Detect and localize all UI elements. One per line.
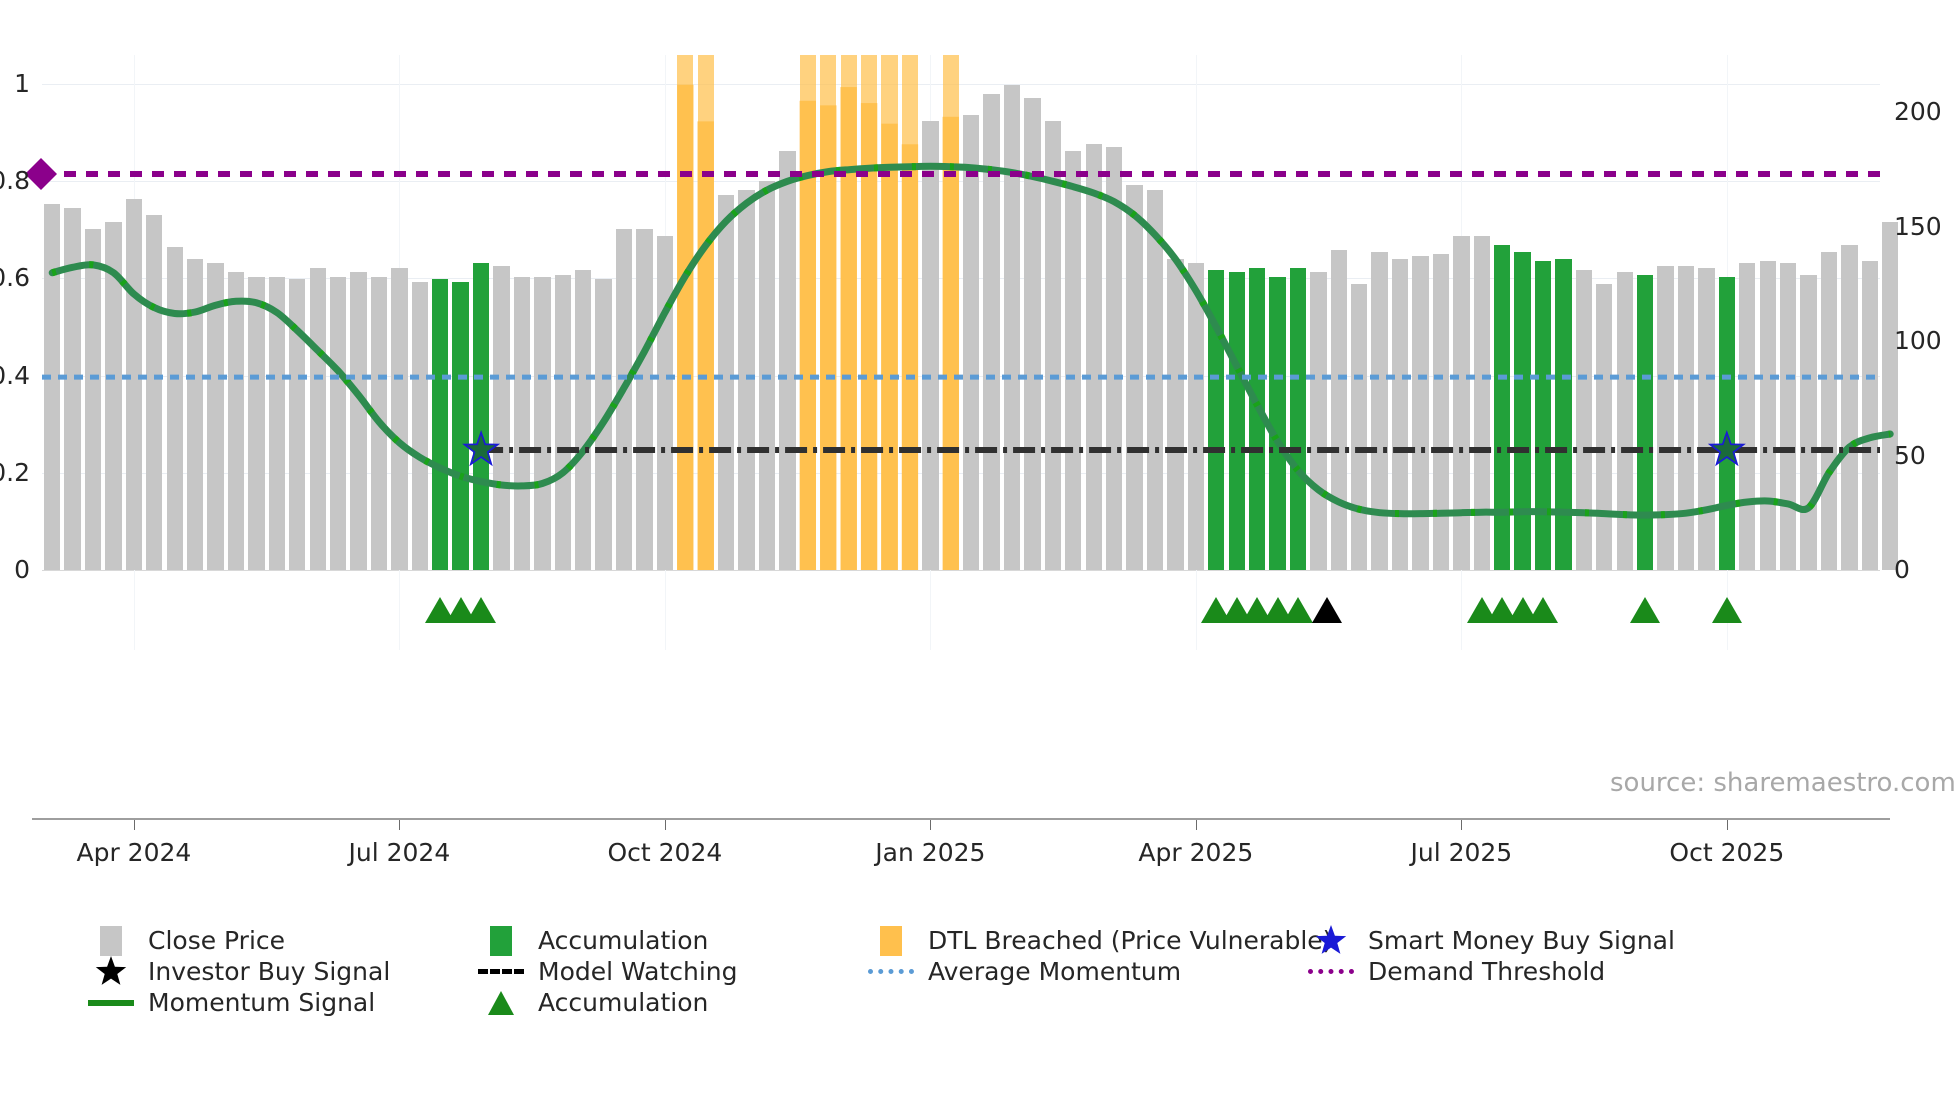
- x-axis-tick-label: Jul 2025: [1410, 838, 1512, 867]
- dtl-breached-tall-bar: [841, 87, 857, 570]
- legend-item[interactable]: Close Price: [88, 925, 468, 956]
- legend-dotted-line-icon: [868, 969, 914, 974]
- legend-item[interactable]: Demand Threshold: [1308, 956, 1708, 987]
- y-axis-left-tick-label: 1: [14, 71, 30, 96]
- y-axis-left-tick-label: 0.6: [0, 265, 30, 290]
- legend-item-label: Smart Money Buy Signal: [1368, 928, 1675, 953]
- legend-triangle-icon: [488, 991, 514, 1015]
- legend-swatch-star: [88, 955, 134, 989]
- y-axis-left-tick-label: 0.2: [0, 460, 30, 485]
- accumulation-triangle-marker: [466, 597, 496, 623]
- legend-item[interactable]: Accumulation: [478, 925, 858, 956]
- x-axis-tick-label: Apr 2025: [1138, 838, 1253, 867]
- source-watermark: source: sharemaestro.com: [1610, 768, 1956, 798]
- legend-square-icon: [100, 926, 122, 956]
- legend-item[interactable]: Accumulation: [478, 987, 858, 1018]
- x-axis-baseline: [32, 818, 1890, 820]
- legend-item[interactable]: Smart Money Buy Signal: [1308, 925, 1708, 956]
- x-axis-tick-label: Oct 2024: [607, 838, 722, 867]
- overlapping-buy-signal-star: [467, 435, 496, 462]
- dtl-breached-tall-bar: [881, 124, 897, 570]
- dtl-breached-tall-bar: [677, 85, 693, 570]
- legend-item-label: Model Watching: [538, 959, 738, 984]
- x-axis-tickmark: [399, 820, 400, 830]
- legend-item-label: Accumulation: [538, 928, 708, 953]
- y-axis-right-tick-label: 100: [1894, 328, 1942, 353]
- legend-item[interactable]: DTL Breached (Price Vulnerable): [868, 925, 1298, 956]
- chart-legend: Close PriceAccumulationDTL Breached (Pri…: [88, 925, 1888, 1018]
- y-axis-right-tick-label: 150: [1894, 214, 1942, 239]
- legend-swatch-triangle: [478, 991, 524, 1015]
- x-axis-tickmark: [1196, 820, 1197, 830]
- legend-star-icon: [94, 955, 128, 989]
- dtl-breached-tall-bar: [698, 121, 714, 570]
- chart-canvas: 00.20.40.60.81050100150200Apr 2024Jul 20…: [0, 0, 1960, 1102]
- legend-swatch-dotted: [868, 969, 914, 974]
- legend-dashed-line-icon: [478, 969, 524, 974]
- x-axis-tickmark: [1727, 820, 1728, 830]
- y-axis-left-tick-label: 0: [14, 557, 30, 582]
- investor-buy-signal-triangle-marker: [1312, 597, 1342, 623]
- x-axis-tickmark: [665, 820, 666, 830]
- legend-dotted-line-icon: [1308, 969, 1354, 974]
- legend-square-icon: [490, 926, 512, 956]
- legend-line-icon: [88, 1000, 134, 1006]
- x-axis-tickmark: [1461, 820, 1462, 830]
- legend-swatch-star: [1308, 924, 1354, 958]
- dtl-breached-tall-bar: [943, 117, 959, 570]
- y-axis-right-tick-label: 200: [1894, 99, 1942, 124]
- x-axis-tick-label: Oct 2025: [1669, 838, 1784, 867]
- x-axis-tickmark: [134, 820, 135, 830]
- accumulation-triangle-marker: [1528, 597, 1558, 623]
- y-axis-right-tick-label: 0: [1894, 557, 1910, 582]
- legend-swatch-square: [88, 926, 134, 956]
- legend-swatch-line: [88, 1000, 134, 1006]
- overlapping-buy-signal-star: [1713, 435, 1742, 462]
- legend-item-label: Close Price: [148, 928, 285, 953]
- x-axis-tickmark: [930, 820, 931, 830]
- legend-item-label: Investor Buy Signal: [148, 959, 390, 984]
- legend-item-label: Average Momentum: [928, 959, 1181, 984]
- momentum-signal-dash-overlay: [52, 166, 1890, 515]
- dtl-breached-tall-bar: [902, 144, 918, 570]
- y-axis-right-tick-label: 50: [1894, 443, 1926, 468]
- legend-item[interactable]: Investor Buy Signal: [88, 956, 468, 987]
- legend-item-label: Momentum Signal: [148, 990, 375, 1015]
- y-axis-left-tick-label: 0.4: [0, 363, 30, 388]
- legend-item-label: DTL Breached (Price Vulnerable): [928, 928, 1332, 953]
- legend-swatch-square: [478, 926, 524, 956]
- accumulation-triangle-marker: [1630, 597, 1660, 623]
- momentum-signal-line: [52, 166, 1890, 515]
- legend-swatch-square: [868, 926, 914, 956]
- legend-item-label: Demand Threshold: [1368, 959, 1605, 984]
- legend-item[interactable]: Momentum Signal: [88, 987, 468, 1018]
- legend-swatch-dotted: [1308, 969, 1354, 974]
- legend-star-icon: [1314, 924, 1348, 958]
- legend-item[interactable]: Model Watching: [478, 956, 858, 987]
- y-axis-left-tick-label: 0.8: [0, 168, 30, 193]
- legend-square-icon: [880, 926, 902, 956]
- accumulation-triangle-marker: [1712, 597, 1742, 623]
- x-axis-tick-label: Jul 2024: [349, 838, 451, 867]
- x-axis-tick-label: Jan 2025: [875, 838, 985, 867]
- legend-item[interactable]: Average Momentum: [868, 956, 1298, 987]
- x-axis-tick-label: Apr 2024: [76, 838, 191, 867]
- legend-item-label: Accumulation: [538, 990, 708, 1015]
- legend-swatch-dashed: [478, 969, 524, 974]
- accumulation-triangle-marker: [1283, 597, 1313, 623]
